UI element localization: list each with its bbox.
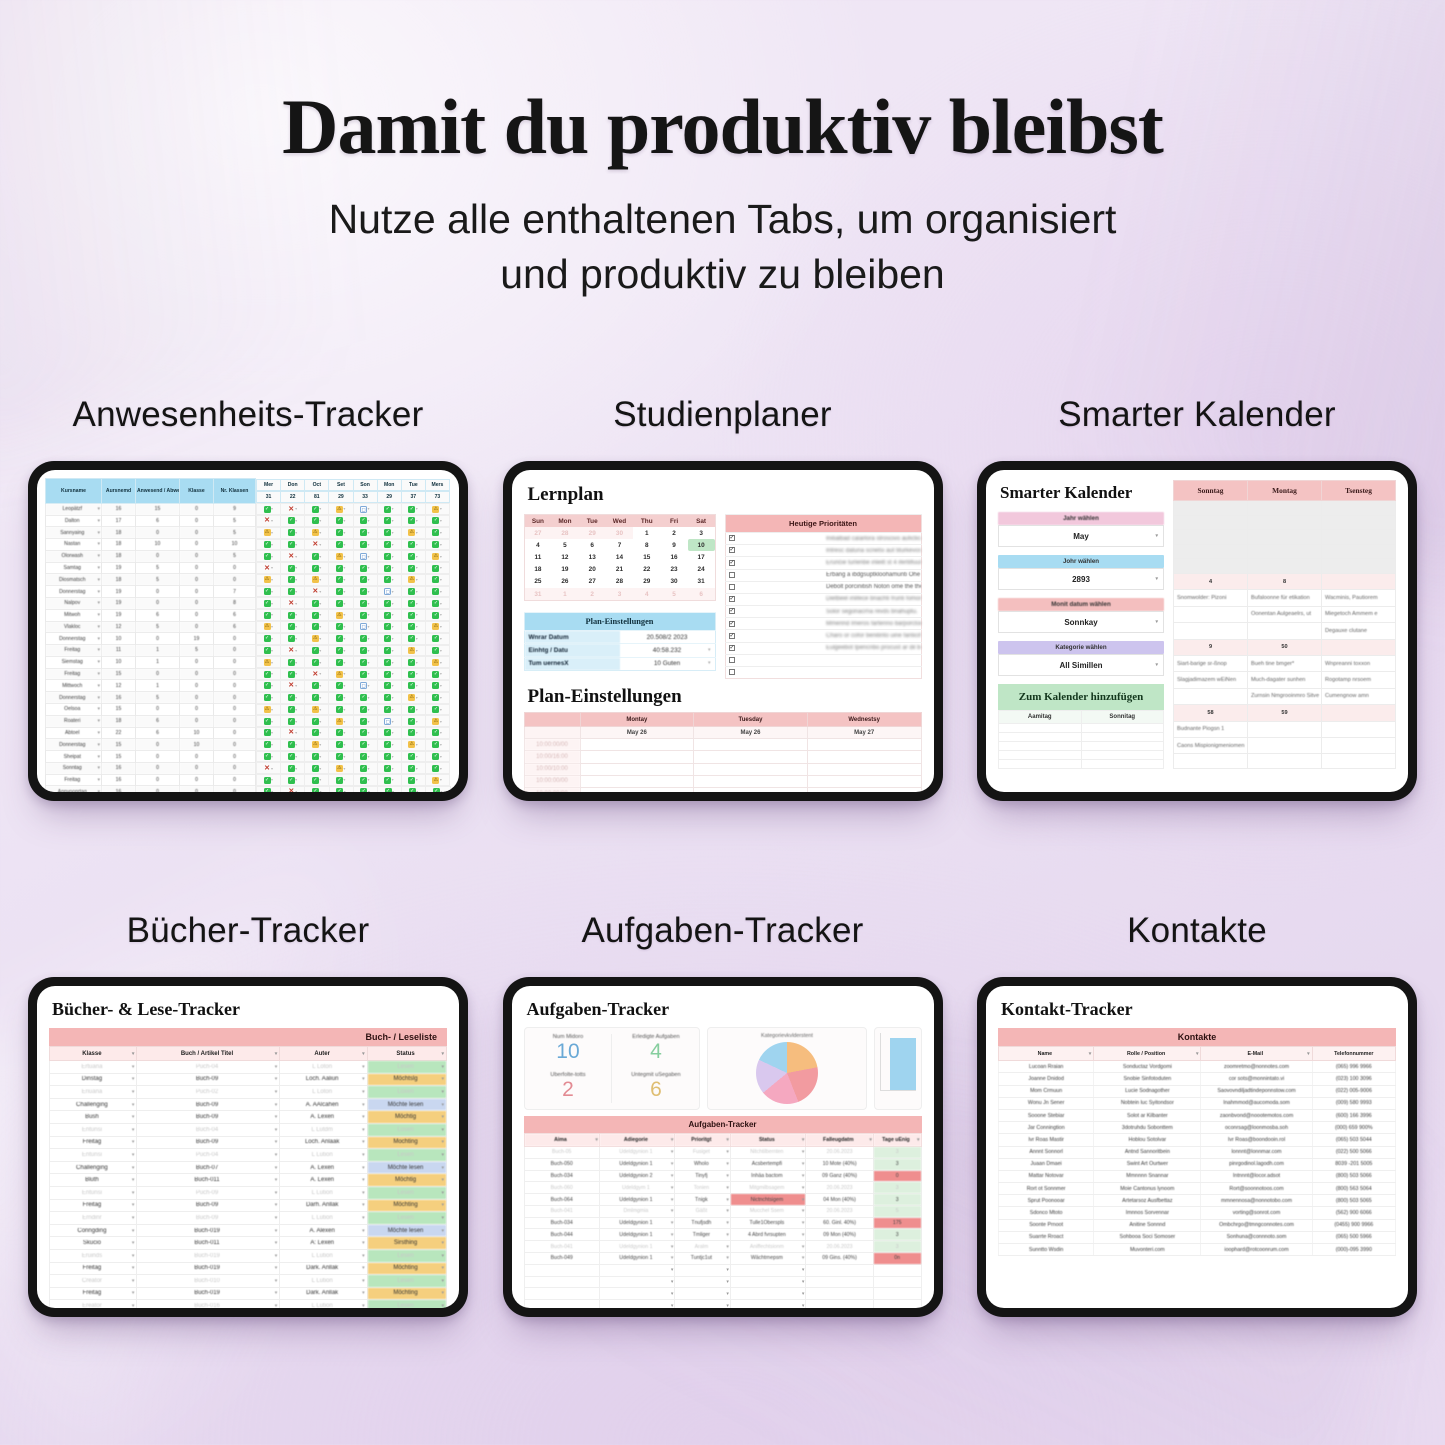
chevron-down-icon[interactable]: ▾ — [391, 530, 394, 535]
chevron-down-icon[interactable]: ▾ — [271, 565, 274, 570]
chevron-down-icon[interactable]: ▾ — [132, 1240, 135, 1246]
chevron-down-icon[interactable]: ▾ — [132, 1253, 135, 1259]
attendance-mark-ok[interactable]: ✓ — [264, 541, 271, 548]
study-schedule-slot[interactable] — [807, 739, 921, 751]
chevron-down-icon[interactable]: ▾ — [319, 648, 322, 653]
attendance-mark-ok[interactable]: ✓ — [312, 729, 319, 736]
tasks-empty-cell[interactable] — [524, 1300, 599, 1308]
chevron-down-icon[interactable]: ▾ — [132, 1152, 135, 1158]
calendar-event-1-0[interactable]: Slagjadimazem wEiNen — [1174, 672, 1248, 688]
chevron-down-icon[interactable]: ▾ — [343, 565, 346, 570]
tasks-cell-status[interactable]: Mucchel Ssem▾ — [730, 1205, 805, 1217]
chevron-down-icon[interactable]: ▾ — [319, 719, 322, 724]
attendance-mark-ok[interactable]: ✓ — [288, 694, 295, 701]
chevron-down-icon[interactable]: ▾ — [367, 730, 370, 735]
chevron-down-icon[interactable]: ▾ — [362, 1278, 365, 1284]
chevron-down-icon[interactable]: ▾ — [319, 554, 322, 559]
chevron-down-icon[interactable]: ▾ — [97, 624, 100, 630]
chevron-down-icon[interactable]: ▾ — [295, 766, 298, 771]
contacts-table[interactable]: Name▾Rolle / Position▾E-Mail▾Telefonnumm… — [998, 1046, 1396, 1256]
checkbox[interactable] — [729, 621, 735, 627]
attendance-mark-b[interactable]: ◻ — [360, 682, 367, 689]
filter-icon[interactable]: ▾ — [917, 1137, 920, 1143]
chevron-down-icon[interactable]: ▾ — [97, 754, 100, 760]
chevron-down-icon[interactable]: ▾ — [671, 1244, 674, 1250]
chevron-down-icon[interactable]: ▾ — [343, 554, 346, 559]
books-cell-status[interactable]: Mochting▾ — [367, 1136, 446, 1149]
tasks-cell-prioritaet[interactable]: Tonien▾ — [675, 1182, 731, 1194]
checkbox[interactable] — [729, 657, 735, 663]
chevron-down-icon[interactable]: ▾ — [271, 518, 274, 523]
chevron-down-icon[interactable]: ▾ — [415, 624, 418, 629]
tasks-cell-prioritaet[interactable]: Tuntjc1ut▾ — [675, 1253, 731, 1265]
study-priority-checkbox-cell[interactable] — [725, 569, 823, 581]
study-calendar-day[interactable]: 1 — [633, 527, 660, 539]
calendar-mini-cell[interactable] — [1081, 751, 1164, 760]
study-calendar-day[interactable]: 19 — [551, 564, 578, 576]
attendance-mark-ok[interactable]: ✓ — [336, 741, 343, 748]
attendance-mark-x[interactable]: ✕ — [312, 671, 319, 678]
study-priorities[interactable]: Heutige Prioritäten Initialbad calarlora… — [725, 514, 922, 679]
study-schedule-slot[interactable] — [580, 739, 694, 751]
chevron-down-icon[interactable]: ▾ — [415, 589, 418, 594]
filter-icon[interactable]: ▾ — [132, 1051, 135, 1057]
chevron-down-icon[interactable]: ▾ — [97, 553, 100, 559]
attendance-mark-ok[interactable]: ✓ — [312, 517, 319, 524]
attendance-mark-x[interactable]: ✕ — [288, 682, 295, 689]
chevron-down-icon[interactable]: ▾ — [271, 742, 274, 747]
chevron-down-icon[interactable]: ▾ — [671, 1267, 674, 1273]
chevron-down-icon[interactable]: ▾ — [97, 506, 100, 512]
chevron-down-icon[interactable]: ▾ — [802, 1220, 805, 1226]
books-cell-status[interactable]: Lesen▾ — [367, 1275, 446, 1288]
study-setting-value-2[interactable]: 10 Guten▾ — [620, 657, 716, 670]
filter-icon[interactable]: ▾ — [362, 1051, 365, 1057]
chevron-down-icon[interactable]: ▾ — [343, 601, 346, 606]
attendance-mark-ok[interactable]: ✓ — [312, 612, 319, 619]
attendance-mark-w[interactable]: ⚠ — [312, 635, 319, 642]
chevron-down-icon[interactable]: ▾ — [319, 754, 322, 759]
chevron-down-icon[interactable]: ▾ — [439, 518, 442, 523]
attendance-mark-ok[interactable]: ✓ — [336, 588, 343, 595]
chevron-down-icon[interactable]: ▾ — [367, 789, 370, 792]
chevron-down-icon[interactable]: ▾ — [343, 577, 346, 582]
chevron-down-icon[interactable]: ▾ — [132, 1076, 135, 1082]
contacts-col-3[interactable]: Telefonnummer — [1312, 1047, 1395, 1061]
chevron-down-icon[interactable]: ▾ — [97, 789, 100, 792]
tasks-empty-cell[interactable] — [524, 1276, 599, 1288]
chevron-down-icon[interactable]: ▾ — [391, 612, 394, 617]
study-calendar-day[interactable]: 22 — [633, 564, 660, 576]
checkbox[interactable] — [729, 608, 735, 614]
tasks-cell-status[interactable]: Wächtrnepsm▾ — [730, 1253, 805, 1265]
attendance-mark-ok[interactable]: ✓ — [336, 541, 343, 548]
chevron-down-icon[interactable]: ▾ — [415, 636, 418, 641]
calendar-event-1-1[interactable]: Much-dagater sunhen — [1248, 672, 1322, 688]
chevron-down-icon[interactable]: ▾ — [671, 1291, 674, 1297]
attendance-mark-ok[interactable]: ✓ — [312, 647, 319, 654]
study-schedule-slot[interactable] — [807, 788, 921, 793]
tablet-aufgaben-tracker[interactable]: Aufgaben-Tracker Num Midoro 10 Uberfolte… — [503, 977, 943, 1317]
books-cell-status[interactable]: Loxen▾ — [367, 1086, 446, 1099]
attendance-mark-ok[interactable]: ✓ — [312, 694, 319, 701]
chevron-down-icon[interactable]: ▾ — [295, 754, 298, 759]
attendance-mark-ok[interactable]: ✓ — [312, 600, 319, 607]
chevron-down-icon[interactable]: ▾ — [295, 518, 298, 523]
attendance-mark-ok[interactable]: ✓ — [360, 741, 367, 748]
calendar-event-2-1[interactable] — [1248, 737, 1322, 753]
chevron-down-icon[interactable]: ▾ — [97, 659, 100, 665]
chevron-down-icon[interactable]: ▾ — [362, 1076, 365, 1082]
chevron-down-icon[interactable]: ▾ — [708, 647, 711, 653]
study-calendar-day[interactable]: 25 — [524, 576, 551, 588]
chevron-down-icon[interactable]: ▾ — [271, 707, 274, 712]
study-calendar-day[interactable]: 30 — [660, 576, 687, 588]
chevron-down-icon[interactable]: ▾ — [726, 1255, 729, 1261]
chevron-down-icon[interactable]: ▾ — [439, 683, 442, 688]
chevron-down-icon[interactable]: ▾ — [391, 518, 394, 523]
chevron-down-icon[interactable]: ▾ — [391, 671, 394, 676]
attendance-mark-ok[interactable]: ✓ — [360, 647, 367, 654]
chevron-down-icon[interactable]: ▾ — [671, 1208, 674, 1214]
study-settings[interactable]: Plan-Einstellungen Wnrar Datum20.508/2 2… — [524, 612, 716, 671]
chevron-down-icon[interactable]: ▾ — [415, 518, 418, 523]
chevron-down-icon[interactable]: ▾ — [271, 719, 274, 724]
chevron-down-icon[interactable]: ▾ — [441, 1114, 444, 1120]
attendance-col-klasse[interactable]: Klasse — [180, 479, 214, 504]
calendar-event-2-2[interactable] — [1322, 754, 1396, 769]
chevron-down-icon[interactable]: ▾ — [416, 789, 419, 792]
chevron-down-icon[interactable]: ▾ — [362, 1139, 365, 1145]
chevron-down-icon[interactable]: ▾ — [671, 1161, 674, 1167]
chevron-down-icon[interactable]: ▾ — [367, 707, 370, 712]
attendance-mark-x[interactable]: ✕ — [312, 541, 319, 548]
tasks-col-1[interactable]: Adiegorie▾ — [599, 1134, 674, 1147]
books-cell-status[interactable]: Möchte lesen▾ — [367, 1098, 446, 1111]
chevron-down-icon[interactable]: ▾ — [132, 1190, 135, 1196]
chevron-down-icon[interactable]: ▾ — [362, 1177, 365, 1183]
chevron-down-icon[interactable]: ▾ — [391, 777, 394, 782]
attendance-mark-w[interactable]: ⚠ — [312, 576, 319, 583]
tasks-col-0[interactable]: Aima▾ — [524, 1134, 599, 1147]
study-schedule-slot[interactable] — [807, 751, 921, 763]
study-calendar-day[interactable]: 6 — [579, 539, 606, 551]
chevron-down-icon[interactable]: ▾ — [275, 1215, 278, 1221]
chevron-down-icon[interactable]: ▾ — [275, 1165, 278, 1171]
attendance-mark-ok[interactable]: ✓ — [360, 541, 367, 548]
chevron-down-icon[interactable]: ▾ — [671, 1197, 674, 1203]
tasks-cell-kategorie[interactable]: Udeldgynion 2▾ — [599, 1170, 674, 1182]
chevron-down-icon[interactable]: ▾ — [271, 636, 274, 641]
tasks-empty-cell[interactable]: ▾ — [730, 1300, 805, 1308]
books-cell-status[interactable]: Lesen▾ — [367, 1300, 446, 1308]
calendar-event-1-1[interactable]: Zurnsin Nmgrooinmro Sitve — [1248, 688, 1322, 704]
chevron-down-icon[interactable]: ▾ — [726, 1208, 729, 1214]
attendance-mark-w[interactable]: ⚠ — [336, 765, 343, 772]
study-calendar-day[interactable]: 6 — [688, 588, 715, 601]
study-priority-checkbox-cell[interactable] — [725, 557, 823, 569]
chevron-down-icon[interactable]: ▾ — [439, 530, 442, 535]
books-cell-status[interactable]: Sirsthing▾ — [367, 1237, 446, 1250]
chevron-down-icon[interactable]: ▾ — [275, 1240, 278, 1246]
chevron-down-icon[interactable]: ▾ — [271, 660, 274, 665]
attendance-mark-x[interactable]: ✕ — [264, 565, 271, 572]
attendance-mark-ok[interactable]: ✓ — [336, 694, 343, 701]
chevron-down-icon[interactable]: ▾ — [415, 506, 418, 511]
chevron-down-icon[interactable]: ▾ — [295, 554, 298, 559]
study-calendar-day[interactable]: 29 — [579, 527, 606, 539]
calendar-event-1-2[interactable]: Cumengnow amn — [1322, 688, 1396, 704]
chevron-down-icon[interactable]: ▾ — [392, 789, 395, 792]
study-schedule-slot[interactable] — [694, 788, 808, 793]
chevron-down-icon[interactable]: ▾ — [362, 1290, 365, 1296]
calendar-mini-cell[interactable] — [1081, 733, 1164, 742]
attendance-col-anwesend[interactable]: Anwesend / Abwesend / Verspätet — [136, 479, 180, 504]
attendance-mark-ok[interactable]: ✓ — [336, 647, 343, 654]
chevron-down-icon[interactable]: ▾ — [275, 1127, 278, 1133]
study-calendar-day[interactable]: 29 — [633, 576, 660, 588]
checkbox[interactable] — [729, 596, 735, 602]
attendance-mark-ok[interactable]: ✓ — [336, 729, 343, 736]
chevron-down-icon[interactable]: ▾ — [132, 1215, 135, 1221]
chevron-down-icon[interactable]: ▾ — [343, 530, 346, 535]
tasks-empty-cell[interactable]: ▾ — [730, 1264, 805, 1276]
chevron-down-icon[interactable]: ▾ — [391, 695, 394, 700]
chevron-down-icon[interactable]: ▾ — [391, 730, 394, 735]
chevron-down-icon[interactable]: ▾ — [319, 695, 322, 700]
attendance-mark-ok[interactable]: ✓ — [336, 753, 343, 760]
chevron-down-icon[interactable]: ▾ — [275, 1064, 278, 1070]
calendar-grid-cell[interactable] — [1248, 544, 1322, 559]
calendar-event-0-2[interactable]: Degauxe clutane — [1322, 623, 1396, 639]
chevron-down-icon[interactable]: ▾ — [726, 1149, 729, 1155]
attendance-mark-ok[interactable]: ✓ — [288, 659, 295, 666]
study-calendar-day[interactable]: 31 — [524, 588, 551, 601]
calendar-grid-cell[interactable] — [1248, 515, 1322, 530]
tasks-cell-status[interactable]: Acsbertempfi▾ — [730, 1158, 805, 1170]
study-calendar-day[interactable]: 17 — [688, 551, 715, 563]
chevron-down-icon[interactable]: ▾ — [367, 660, 370, 665]
chevron-down-icon[interactable]: ▾ — [440, 789, 443, 792]
tasks-cell-prioritaet[interactable]: Tnigk▾ — [675, 1194, 731, 1206]
tasks-empty-cell[interactable]: ▾ — [675, 1288, 731, 1300]
tasks-cell-kategorie[interactable]: Udeldgynion 1▾ — [599, 1241, 674, 1253]
tasks-cell-prioritaet[interactable]: Fusiget▾ — [675, 1147, 731, 1159]
chevron-down-icon[interactable]: ▾ — [132, 1114, 135, 1120]
chevron-down-icon[interactable]: ▾ — [726, 1291, 729, 1297]
chevron-down-icon[interactable]: ▾ — [97, 777, 100, 783]
chevron-down-icon[interactable]: ▾ — [319, 624, 322, 629]
chevron-down-icon[interactable]: ▾ — [415, 683, 418, 688]
chevron-down-icon[interactable]: ▾ — [367, 542, 370, 547]
chevron-down-icon[interactable]: ▾ — [802, 1149, 805, 1155]
tasks-empty-cell[interactable] — [873, 1288, 921, 1300]
chevron-down-icon[interactable]: ▾ — [275, 1152, 278, 1158]
calendar-grid-cell[interactable] — [1248, 501, 1322, 516]
chevron-down-icon[interactable]: ▾ — [439, 766, 442, 771]
calendar-event-0-1[interactable]: Oonentan Aulgeaelrs, ut — [1248, 606, 1322, 622]
study-calendar-day[interactable]: 5 — [660, 588, 687, 601]
chevron-down-icon[interactable]: ▾ — [362, 1064, 365, 1070]
tasks-cell-prioritaet[interactable]: Tnufjsdh▾ — [675, 1217, 731, 1229]
chevron-down-icon[interactable]: ▾ — [295, 660, 298, 665]
tasks-cell-prioritaet[interactable]: Tmliger▾ — [675, 1229, 731, 1241]
calendar-event-0-1[interactable] — [1248, 623, 1322, 639]
attendance-mark-ok[interactable]: ✓ — [264, 741, 271, 748]
chevron-down-icon[interactable]: ▾ — [439, 648, 442, 653]
checkbox[interactable] — [729, 669, 735, 675]
chevron-down-icon[interactable]: ▾ — [295, 648, 298, 653]
chevron-down-icon[interactable]: ▾ — [343, 624, 346, 629]
books-cell-status[interactable]: Lesen▾ — [367, 1249, 446, 1262]
attendance-mark-ok[interactable]: ✓ — [360, 777, 367, 784]
chevron-down-icon[interactable]: ▾ — [415, 648, 418, 653]
books-cell-status[interactable]: Möchtslg▾ — [367, 1073, 446, 1086]
study-calendar-day[interactable]: 28 — [606, 576, 633, 588]
chevron-down-icon[interactable]: ▾ — [271, 683, 274, 688]
chevron-down-icon[interactable]: ▾ — [439, 624, 442, 629]
chevron-down-icon[interactable]: ▾ — [362, 1089, 365, 1095]
attendance-mark-ok[interactable]: ✓ — [360, 529, 367, 536]
tablet-studienplaner[interactable]: Lernplan SunMonTueWedThuFriSat 272829301… — [503, 461, 943, 801]
study-priority-checkbox-cell[interactable] — [725, 593, 823, 605]
chevron-down-icon[interactable]: ▾ — [367, 648, 370, 653]
filter-icon[interactable]: ▾ — [441, 1051, 444, 1057]
attendance-mark-ok[interactable]: ✓ — [336, 777, 343, 784]
chevron-down-icon[interactable]: ▾ — [415, 707, 418, 712]
chevron-down-icon[interactable]: ▾ — [439, 612, 442, 617]
chevron-down-icon[interactable]: ▾ — [343, 766, 346, 771]
attendance-mark-ok[interactable]: ✓ — [288, 741, 295, 748]
chevron-down-icon[interactable]: ▾ — [271, 754, 274, 759]
chevron-down-icon[interactable]: ▾ — [415, 777, 418, 782]
chevron-down-icon[interactable]: ▾ — [319, 601, 322, 606]
attendance-mark-ok[interactable]: ✓ — [312, 623, 319, 630]
chevron-down-icon[interactable]: ▾ — [671, 1149, 674, 1155]
chevron-down-icon[interactable]: ▾ — [415, 601, 418, 606]
calendar-event-2-1[interactable] — [1248, 754, 1322, 769]
calendar-mini-cell[interactable] — [999, 751, 1082, 760]
calendar-event-2-0[interactable]: Budnante Piogsn 1 — [1174, 721, 1248, 737]
chevron-down-icon[interactable]: ▾ — [132, 1303, 135, 1308]
chevron-down-icon[interactable]: ▾ — [343, 671, 346, 676]
attendance-mark-w[interactable]: ⚠ — [336, 506, 343, 513]
chevron-down-icon[interactable]: ▾ — [295, 589, 298, 594]
study-schedule-slot[interactable] — [694, 751, 808, 763]
chevron-down-icon[interactable]: ▾ — [802, 1303, 805, 1308]
attendance-mark-ok[interactable]: ✓ — [360, 635, 367, 642]
chevron-down-icon[interactable]: ▾ — [415, 577, 418, 582]
study-calendar-day[interactable]: 3 — [606, 588, 633, 601]
chevron-down-icon[interactable]: ▾ — [295, 506, 298, 511]
attendance-col-nrklassen[interactable]: Nr. Klassen — [214, 479, 256, 504]
tasks-col-5[interactable]: Tage uEnig▾ — [873, 1134, 921, 1147]
chevron-down-icon[interactable]: ▾ — [97, 600, 100, 606]
chevron-down-icon[interactable]: ▾ — [671, 1185, 674, 1191]
attendance-col-kursname[interactable]: Kursname — [46, 479, 102, 504]
calendar-week-grid[interactable]: SonntagMontagTsensteg 48Snomwolder: Pizo… — [1173, 480, 1396, 769]
chevron-down-icon[interactable]: ▾ — [319, 707, 322, 712]
study-calendar-day[interactable]: 2 — [660, 527, 687, 539]
study-calendar-day[interactable]: 12 — [551, 551, 578, 563]
chevron-down-icon[interactable]: ▾ — [367, 612, 370, 617]
calendar-event-2-0[interactable]: Caons Mispionigmeniomen — [1174, 737, 1248, 753]
attendance-mark-x[interactable]: ✕ — [264, 765, 271, 772]
attendance-mark-ok[interactable]: ✓ — [264, 553, 271, 560]
chevron-down-icon[interactable]: ▾ — [415, 671, 418, 676]
chevron-down-icon[interactable]: ▾ — [439, 754, 442, 759]
chevron-down-icon[interactable]: ▾ — [132, 1102, 135, 1108]
chevron-down-icon[interactable]: ▾ — [441, 1240, 444, 1246]
chevron-down-icon[interactable]: ▾ — [295, 542, 298, 547]
chevron-down-icon[interactable]: ▾ — [295, 565, 298, 570]
attendance-mark-ok[interactable]: ✓ — [264, 612, 271, 619]
chevron-down-icon[interactable]: ▾ — [362, 1215, 365, 1221]
books-cell-status[interactable]: Lesen▾ — [367, 1186, 446, 1199]
study-calendar-day[interactable]: 20 — [579, 564, 606, 576]
study-schedule-slot[interactable] — [807, 775, 921, 787]
chevron-down-icon[interactable]: ▾ — [415, 730, 418, 735]
chevron-down-icon[interactable]: ▾ — [271, 777, 274, 782]
chevron-down-icon[interactable]: ▾ — [391, 577, 394, 582]
chevron-down-icon[interactable]: ▾ — [271, 612, 274, 617]
chevron-down-icon[interactable]: ▾ — [343, 695, 346, 700]
tasks-cell-status[interactable]: Mitgmilbsagem▾ — [730, 1182, 805, 1194]
attendance-mark-ok[interactable]: ✓ — [336, 600, 343, 607]
study-schedule-slot[interactable] — [694, 739, 808, 751]
chevron-down-icon[interactable]: ▾ — [132, 1278, 135, 1284]
chevron-down-icon[interactable]: ▾ — [132, 1064, 135, 1070]
chevron-down-icon[interactable]: ▾ — [343, 612, 346, 617]
books-cell-status[interactable]: Lesen▾ — [367, 1149, 446, 1162]
tasks-cell-kategorie[interactable]: Udeldgynion 1▾ — [599, 1194, 674, 1206]
chevron-down-icon[interactable]: ▾ — [726, 1232, 729, 1238]
attendance-mark-w[interactable]: ⚠ — [336, 612, 343, 619]
study-schedule-slot[interactable] — [694, 763, 808, 775]
chevron-down-icon[interactable]: ▾ — [97, 518, 100, 524]
chevron-down-icon[interactable]: ▾ — [726, 1279, 729, 1285]
chevron-down-icon[interactable]: ▾ — [802, 1185, 805, 1191]
chevron-down-icon[interactable]: ▾ — [319, 766, 322, 771]
chevron-down-icon[interactable]: ▾ — [295, 636, 298, 641]
chevron-down-icon[interactable]: ▾ — [343, 506, 346, 511]
attendance-mark-ok[interactable]: ✓ — [360, 659, 367, 666]
study-priority-checkbox-cell[interactable] — [725, 618, 823, 630]
chevron-down-icon[interactable]: ▾ — [391, 742, 394, 747]
chevron-down-icon[interactable]: ▾ — [726, 1173, 729, 1179]
books-cell-status[interactable]: Möchting▾ — [367, 1287, 446, 1300]
calendar-mini-cell[interactable] — [999, 742, 1082, 751]
study-setting-value-1[interactable]: 40:58.232▾ — [620, 644, 716, 657]
attendance-mark-ok[interactable]: ✓ — [360, 729, 367, 736]
chevron-down-icon[interactable]: ▾ — [439, 542, 442, 547]
attendance-mark-ok[interactable]: ✓ — [336, 517, 343, 524]
books-col-3[interactable]: Status▾ — [367, 1047, 446, 1061]
attendance-mark-w[interactable]: ⚠ — [264, 659, 271, 666]
chevron-down-icon[interactable]: ▾ — [367, 636, 370, 641]
calendar-event-2-0[interactable] — [1174, 754, 1248, 769]
chevron-down-icon[interactable]: ▾ — [275, 1102, 278, 1108]
calendar-selector-value-2[interactable]: Sonnkay▾ — [998, 611, 1164, 633]
attendance-mark-ok[interactable]: ✓ — [288, 576, 295, 583]
calendar-event-2-2[interactable] — [1322, 721, 1396, 737]
chevron-down-icon[interactable]: ▾ — [132, 1165, 135, 1171]
chevron-down-icon[interactable]: ▾ — [319, 742, 322, 747]
chevron-down-icon[interactable]: ▾ — [367, 589, 370, 594]
chevron-down-icon[interactable]: ▾ — [391, 766, 394, 771]
chevron-down-icon[interactable]: ▾ — [367, 719, 370, 724]
chevron-down-icon[interactable]: ▾ — [439, 589, 442, 594]
